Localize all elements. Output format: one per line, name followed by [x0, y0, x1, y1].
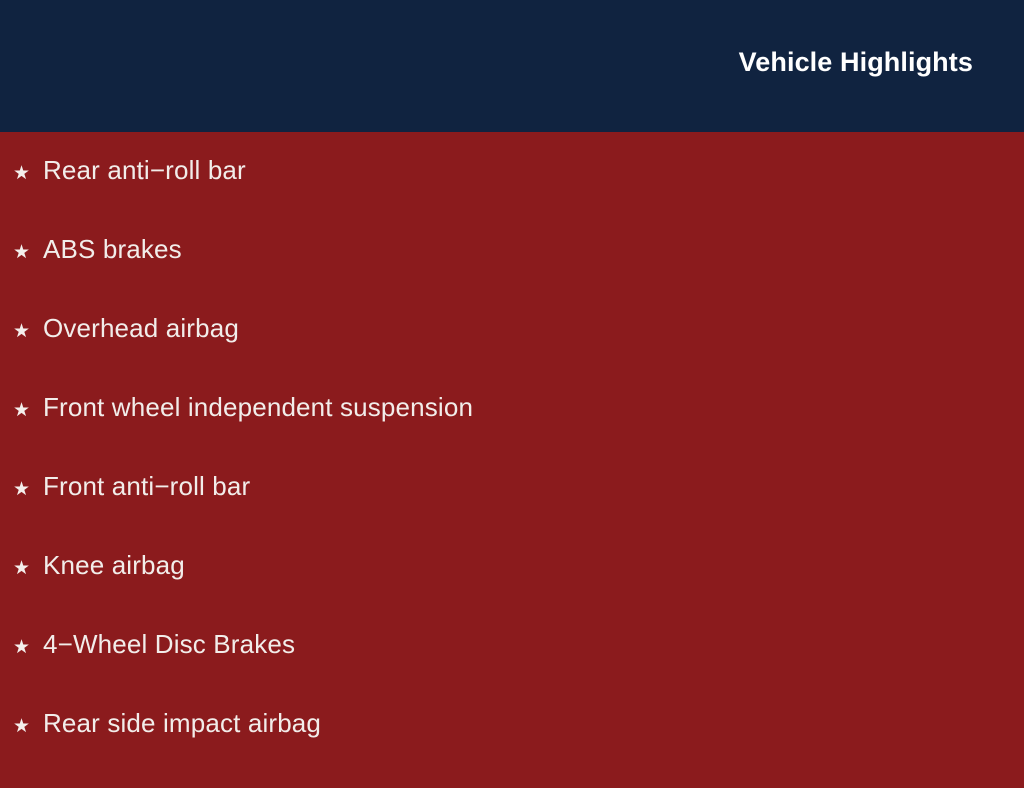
highlight-label: Front anti−roll bar — [43, 472, 250, 502]
highlight-label: Rear anti−roll bar — [43, 156, 246, 186]
list-item: ★ Front anti−roll bar — [13, 472, 984, 551]
star-icon: ★ — [13, 559, 43, 578]
highlight-label: 4−Wheel Disc Brakes — [43, 630, 295, 660]
page-title: Vehicle Highlights — [739, 48, 973, 78]
highlight-label: ABS brakes — [43, 235, 182, 265]
highlight-label: Rear side impact airbag — [43, 709, 321, 739]
star-icon: ★ — [13, 480, 43, 499]
highlight-label: Knee airbag — [43, 551, 185, 581]
star-icon: ★ — [13, 401, 43, 420]
list-item: ★ 4−Wheel Disc Brakes — [13, 630, 984, 709]
star-icon: ★ — [13, 243, 43, 262]
list-item: ★ Overhead airbag — [13, 314, 984, 393]
slide-content-area: ★ Rear anti−roll bar ★ ABS brakes ★ Over… — [0, 132, 1024, 788]
list-item: ★ Rear side impact airbag — [13, 709, 984, 788]
star-icon: ★ — [13, 164, 43, 183]
list-item: ★ Rear anti−roll bar — [13, 156, 984, 235]
list-item: ★ ABS brakes — [13, 235, 984, 314]
star-icon: ★ — [13, 322, 43, 341]
vehicle-highlights-slide: Vehicle Highlights ★ Rear anti−roll bar … — [0, 0, 1024, 768]
list-item: ★ Front wheel independent suspension — [13, 393, 984, 472]
list-item: ★ Knee airbag — [13, 551, 984, 630]
highlight-label: Front wheel independent suspension — [43, 393, 473, 423]
star-icon: ★ — [13, 717, 43, 736]
highlight-label: Overhead airbag — [43, 314, 239, 344]
star-icon: ★ — [13, 638, 43, 657]
slide-header-band: Vehicle Highlights — [0, 0, 1024, 132]
vehicle-highlights-list: ★ Rear anti−roll bar ★ ABS brakes ★ Over… — [13, 156, 984, 788]
